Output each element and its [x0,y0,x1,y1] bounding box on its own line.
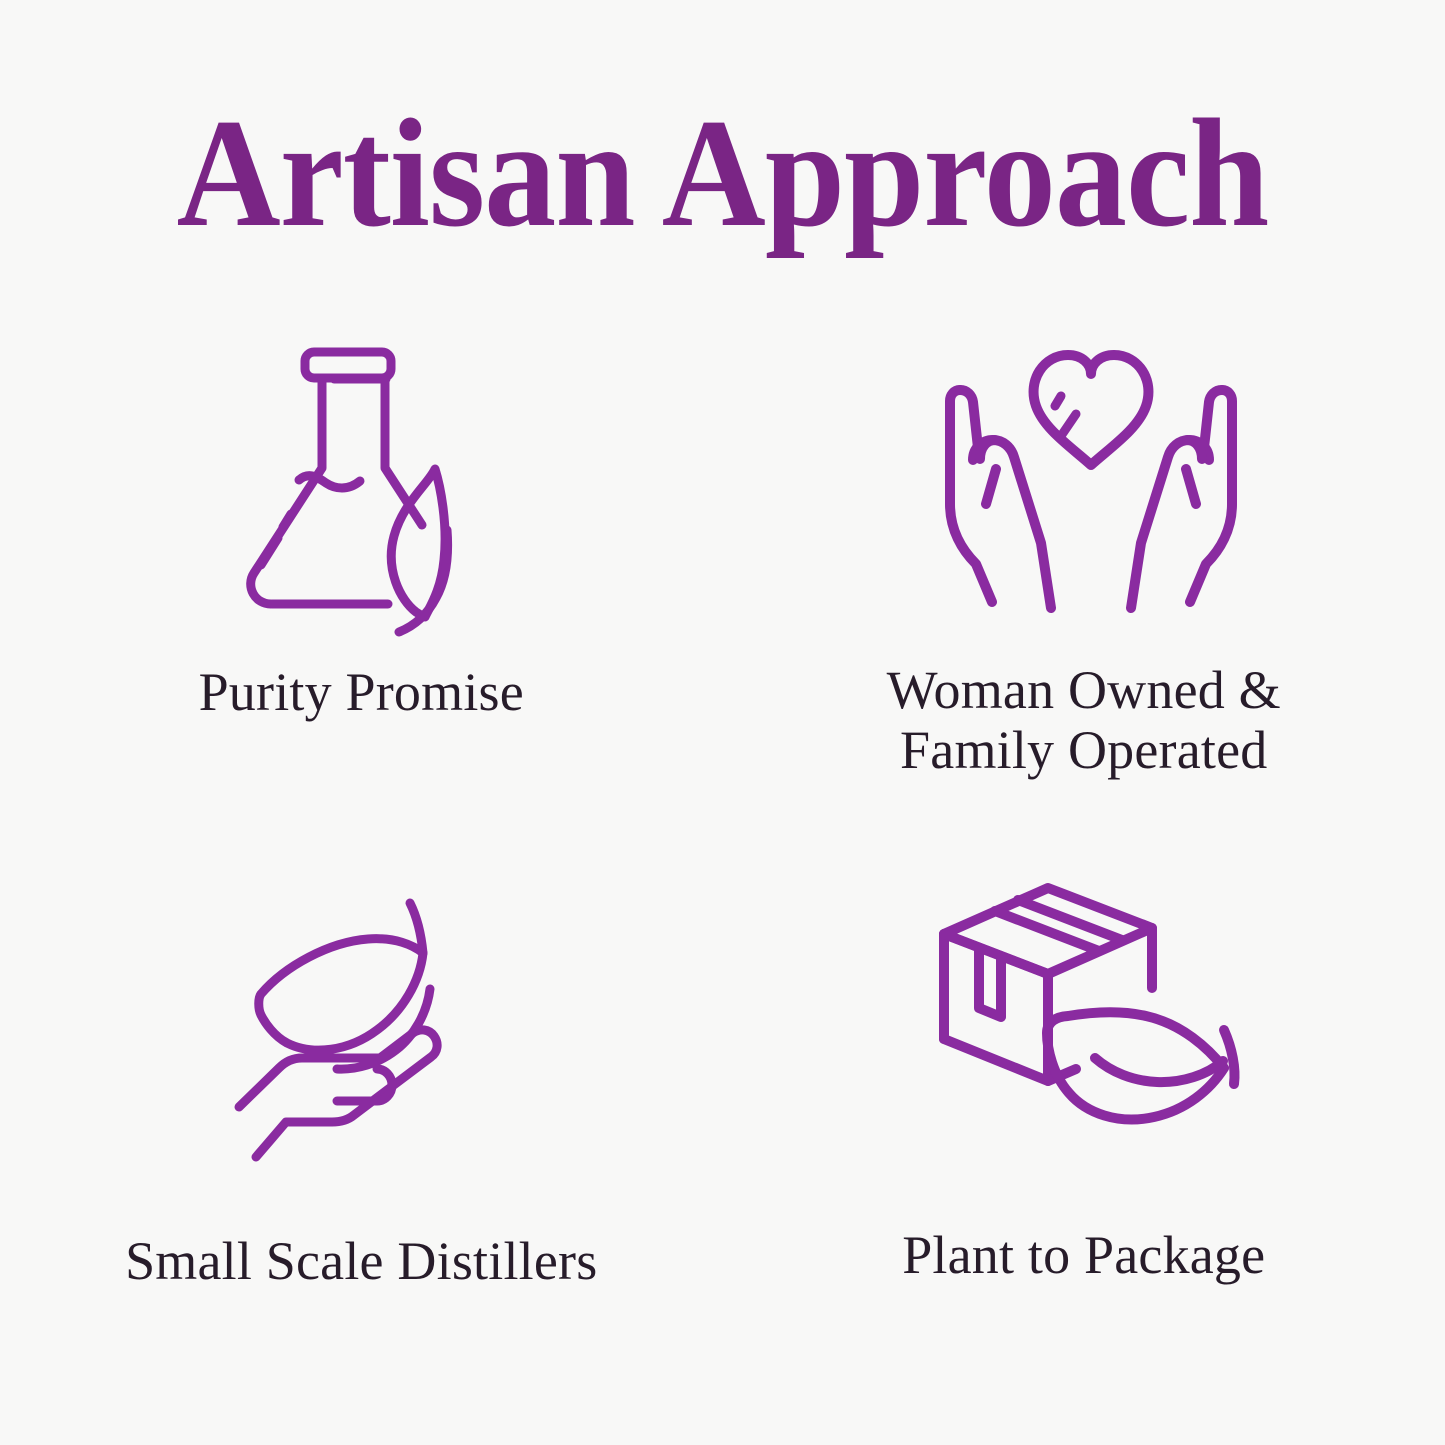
feature-woman-owned[interactable]: Woman Owned & Family Operated [723,330,1445,855]
flask-leaf-icon [206,330,506,630]
feature-label-line-1: Woman Owned & [887,660,1281,720]
hands-heart-icon [926,330,1256,630]
feature-label-small-scale-distillers: Small Scale Distillers [125,1231,597,1291]
feature-grid: Purity Promise [0,330,1445,1380]
feature-label-woman-owned: Woman Owned & Family Operated [887,660,1281,781]
feature-plant-to-package[interactable]: Plant to Package [723,855,1445,1380]
feature-label-line-2: Family Operated [887,720,1281,780]
page-title-container: Artisan Approach [0,96,1445,251]
feature-small-scale-distillers[interactable]: Small Scale Distillers [0,855,723,1380]
page-title: Artisan Approach [51,96,1395,251]
artisan-approach-poster: Artisan Approach [0,0,1445,1445]
hand-leaf-icon [203,885,503,1185]
feature-label-plant-to-package: Plant to Package [902,1225,1265,1285]
box-leaf-icon [922,877,1252,1177]
feature-label-purity-promise: Purity Promise [199,662,524,722]
feature-purity-promise[interactable]: Purity Promise [0,330,723,855]
